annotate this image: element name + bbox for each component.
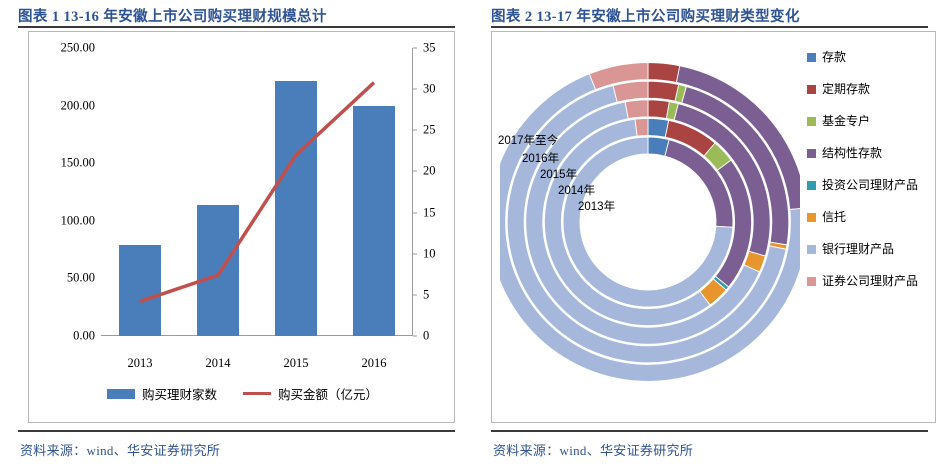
donut-segment xyxy=(635,118,648,136)
legend-color-swatch-icon xyxy=(807,277,816,286)
legend-item-label: 购买理财家数 xyxy=(142,384,217,403)
legend-item: 存款 xyxy=(807,50,925,65)
legend-item: 购买理财家数 xyxy=(107,384,217,403)
legend-item-label: 基金专户 xyxy=(822,114,870,129)
bar-line-plot-area: 250.00200.00150.00100.0050.000.003530252… xyxy=(101,48,413,336)
secondary-y-axis-tick-label: 35 xyxy=(423,41,436,56)
axis-tick-mark xyxy=(413,171,417,172)
y-axis-tick-label: 250.00 xyxy=(61,41,95,56)
legend-item-label: 定期存款 xyxy=(822,82,870,97)
legend-item-label: 购买金额（亿元） xyxy=(278,384,378,403)
ring-year-label: 2015年 xyxy=(540,166,577,182)
legend-item: 基金专户 xyxy=(807,114,925,129)
legend-color-swatch-icon xyxy=(807,117,816,126)
figure-2-source: 资料来源：wind、华安证券研究所 xyxy=(493,440,693,459)
donut-segment xyxy=(613,81,648,102)
figure-2-top-rule xyxy=(491,26,928,28)
legend-line-swatch-icon xyxy=(243,392,271,395)
figure-1-top-rule xyxy=(18,26,455,28)
legend-item: 信托 xyxy=(807,210,925,225)
figure-2-legend: 存款定期存款基金专户结构性存款投资公司理财产品信托银行理财产品证券公司理财产品 xyxy=(807,50,925,306)
axis-tick-mark xyxy=(413,336,417,337)
legend-item-label: 证券公司理财产品 xyxy=(822,274,918,289)
y-axis-tick-label: 0.00 xyxy=(73,329,95,344)
legend-color-swatch-icon xyxy=(807,245,816,254)
ring-year-label: 2014年 xyxy=(558,182,595,198)
figure-2-panel: 图表 2 13-17 年安徽上市公司购买理财类型变化 2017年至今2016年2… xyxy=(473,0,946,470)
secondary-y-axis-tick-label: 0 xyxy=(423,329,429,344)
secondary-y-axis-tick-label: 15 xyxy=(423,205,436,220)
ring-year-label: 2016年 xyxy=(522,150,559,166)
donut-ring xyxy=(563,137,733,307)
legend-item: 证券公司理财产品 xyxy=(807,274,925,289)
figure-1-bottom-rule xyxy=(18,430,455,432)
legend-item-label: 存款 xyxy=(822,50,846,65)
x-axis-tick-label: 2016 xyxy=(362,356,387,371)
figure-2-title: 图表 2 13-17 年安徽上市公司购买理财类型变化 xyxy=(491,5,800,26)
axis-tick-mark xyxy=(413,48,417,49)
donut-segment xyxy=(648,100,669,119)
legend-item: 投资公司理财产品 xyxy=(807,178,925,193)
legend-bar-swatch-icon xyxy=(107,389,135,399)
legend-item: 银行理财产品 xyxy=(807,242,925,257)
figure-2-chart-box: 2017年至今2016年2015年2014年2013年 存款定期存款基金专户结构… xyxy=(491,31,936,423)
x-axis-tick-label: 2015 xyxy=(284,356,309,371)
legend-color-swatch-icon xyxy=(807,85,816,94)
axis-tick-mark xyxy=(413,253,417,254)
ring-year-label: 2017年至今 xyxy=(498,132,558,148)
legend-item-label: 结构性存款 xyxy=(822,146,882,161)
donut-segment xyxy=(625,100,648,119)
figure-1-legend: 购买理财家数购买金额（亿元） xyxy=(29,384,456,403)
multi-ring-donut-svg xyxy=(500,32,800,422)
axis-tick-mark xyxy=(413,212,417,213)
figure-1-panel: 图表 1 13-16 年安徽上市公司购买理财规模总计 250.00200.001… xyxy=(0,0,473,470)
line-series xyxy=(101,48,413,336)
legend-color-swatch-icon xyxy=(807,53,816,62)
legend-item-label: 投资公司理财产品 xyxy=(822,178,918,193)
secondary-y-axis-tick-label: 10 xyxy=(423,246,436,261)
figure-1-chart-box: 250.00200.00150.00100.0050.000.003530252… xyxy=(28,31,455,423)
x-axis-tick-label: 2014 xyxy=(206,356,231,371)
legend-color-swatch-icon xyxy=(807,181,816,190)
axis-tick-mark xyxy=(413,89,417,90)
ring-year-label: 2013年 xyxy=(578,198,615,214)
figure-2-bottom-rule xyxy=(491,430,928,432)
donut-segment xyxy=(648,63,680,83)
y-axis-tick-label: 100.00 xyxy=(61,213,95,228)
axis-tick-mark xyxy=(413,130,417,131)
figure-1-source: 资料来源：wind、华安证券研究所 xyxy=(20,440,220,459)
legend-item-label: 信托 xyxy=(822,210,846,225)
y-axis-tick-label: 150.00 xyxy=(61,156,95,171)
secondary-y-axis-tick-label: 5 xyxy=(423,287,429,302)
y-axis-tick-label: 50.00 xyxy=(67,271,95,286)
secondary-y-axis-tick-label: 20 xyxy=(423,164,436,179)
donut-ring xyxy=(526,100,770,344)
legend-item: 结构性存款 xyxy=(807,146,925,161)
secondary-y-axis-tick-label: 25 xyxy=(423,123,436,138)
axis-tick-mark xyxy=(413,294,417,295)
legend-item: 定期存款 xyxy=(807,82,925,97)
legend-item-label: 银行理财产品 xyxy=(822,242,894,257)
secondary-y-axis-tick-label: 30 xyxy=(423,82,436,97)
legend-item: 购买金额（亿元） xyxy=(243,384,378,403)
donut-segment xyxy=(648,81,679,101)
legend-color-swatch-icon xyxy=(807,149,816,158)
figure-1-title: 图表 1 13-16 年安徽上市公司购买理财规模总计 xyxy=(18,5,327,26)
x-axis-tick-label: 2013 xyxy=(128,356,153,371)
legend-color-swatch-icon xyxy=(807,213,816,222)
y-axis-tick-label: 200.00 xyxy=(61,98,95,113)
